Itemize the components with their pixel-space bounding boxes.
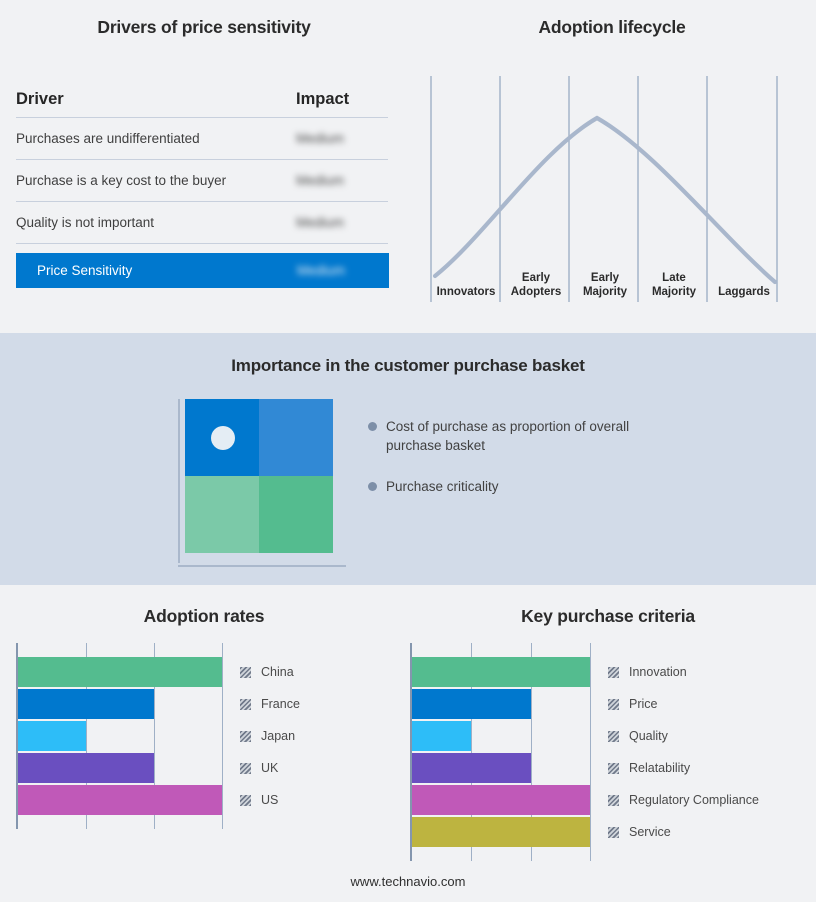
adoption-rates-chart: ChinaFranceJapanUKUS xyxy=(16,643,408,858)
stage-label-laggards: Laggards xyxy=(700,286,788,300)
legend-label: Price xyxy=(629,697,657,711)
quadrant-cell-bottom-left xyxy=(185,476,259,553)
legend-item: Relatability xyxy=(608,761,690,775)
hatched-swatch-icon xyxy=(240,699,251,710)
legend-label: Relatability xyxy=(629,761,690,775)
drivers-title: Drivers of price sensitivity xyxy=(0,17,408,38)
quadrant-cell-bottom-right xyxy=(259,476,333,553)
lifecycle-stage-labels: Innovators EarlyAdopters EarlyMajority L… xyxy=(430,276,802,316)
adoption-rates-title: Adoption rates xyxy=(0,606,408,627)
legend-label: UK xyxy=(261,761,278,775)
drivers-table-header: Driver Impact xyxy=(16,90,388,118)
adoption-bell-curve xyxy=(435,118,775,282)
legend-label: Service xyxy=(629,825,671,839)
drivers-table: Driver Impact Purchases are undifferenti… xyxy=(16,90,388,288)
position-marker-dot xyxy=(211,426,235,450)
lifecycle-title: Adoption lifecycle xyxy=(408,17,816,38)
legend-label: Regulatory Compliance xyxy=(629,793,759,807)
bar-price xyxy=(412,689,531,719)
purchase-basket-band: Importance in the customer purchase bask… xyxy=(0,333,816,585)
basket-title: Importance in the customer purchase bask… xyxy=(0,356,816,376)
bar-quality xyxy=(412,721,471,751)
legend-label: Japan xyxy=(261,729,295,743)
basket-legend-label: Cost of purchase as proportion of overal… xyxy=(386,417,652,455)
hatched-swatch-icon xyxy=(608,763,619,774)
legend-item: Price xyxy=(608,697,657,711)
basket-legend-label: Purchase criticality xyxy=(386,477,499,496)
bar-france xyxy=(18,689,154,719)
hatched-swatch-icon xyxy=(608,699,619,710)
bar-plot-area xyxy=(410,643,590,861)
chart-legend: ChinaFranceJapanUKUS xyxy=(240,643,390,829)
driver-impact: Medium xyxy=(296,131,388,146)
driver-impact: Medium xyxy=(296,215,388,230)
table-row: Purchases are undifferentiated Medium xyxy=(16,118,388,160)
legend-label: France xyxy=(261,697,300,711)
adoption-rates-panel: Adoption rates ChinaFranceJapanUKUS xyxy=(0,585,408,875)
legend-label: Innovation xyxy=(629,665,687,679)
chart-legend: InnovationPriceQualityRelatabilityRegula… xyxy=(608,643,808,861)
bar-china xyxy=(18,657,222,687)
legend-item: Innovation xyxy=(608,665,687,679)
gridline xyxy=(222,643,223,829)
hatched-swatch-icon xyxy=(608,827,619,838)
hatched-swatch-icon xyxy=(240,667,251,678)
quadrant-cell-top-left xyxy=(185,399,259,476)
legend-label: Quality xyxy=(629,729,668,743)
table-row: Purchase is a key cost to the buyer Medi… xyxy=(16,160,388,202)
bottom-band: Adoption rates ChinaFranceJapanUKUS Key … xyxy=(0,585,816,902)
quadrant-cells xyxy=(185,399,333,553)
legend-item: France xyxy=(240,697,300,711)
bar-service xyxy=(412,817,590,847)
hatched-swatch-icon xyxy=(608,795,619,806)
lifecycle-gridlines xyxy=(431,76,777,302)
top-band: Drivers of price sensitivity Driver Impa… xyxy=(0,0,816,333)
infographic-page: Drivers of price sensitivity Driver Impa… xyxy=(0,0,816,902)
key-criteria-panel: Key purchase criteria InnovationPriceQua… xyxy=(400,585,816,875)
bar-uk xyxy=(18,753,154,783)
hatched-swatch-icon xyxy=(608,731,619,742)
hatched-swatch-icon xyxy=(240,763,251,774)
legend-label: China xyxy=(261,665,294,679)
quadrant-y-axis xyxy=(178,399,180,563)
summary-impact: Medium xyxy=(297,263,389,278)
legend-item: Japan xyxy=(240,729,295,743)
legend-item: US xyxy=(240,793,278,807)
legend-label: US xyxy=(261,793,278,807)
key-criteria-title: Key purchase criteria xyxy=(400,606,816,627)
driver-name: Quality is not important xyxy=(16,215,296,230)
legend-item: Quality xyxy=(608,729,668,743)
footer-url: www.technavio.com xyxy=(0,874,816,889)
bar-innovation xyxy=(412,657,590,687)
driver-name: Purchases are undifferentiated xyxy=(16,131,296,146)
quadrant-x-axis xyxy=(178,565,346,567)
legend-item: UK xyxy=(240,761,278,775)
legend-item: China xyxy=(240,665,294,679)
key-criteria-chart: InnovationPriceQualityRelatabilityRegula… xyxy=(410,643,816,878)
hatched-swatch-icon xyxy=(240,731,251,742)
driver-name: Purchase is a key cost to the buyer xyxy=(16,173,296,188)
price-sensitivity-summary-row: Price Sensitivity Medium xyxy=(16,253,389,288)
gridline xyxy=(590,643,591,861)
summary-label: Price Sensitivity xyxy=(37,263,297,278)
column-header-driver: Driver xyxy=(16,90,296,109)
bar-japan xyxy=(18,721,86,751)
list-item: Cost of purchase as proportion of overal… xyxy=(368,417,788,455)
bullet-icon xyxy=(368,482,377,491)
bar-relatability xyxy=(412,753,531,783)
basket-legend: Cost of purchase as proportion of overal… xyxy=(368,417,788,518)
quadrant-chart xyxy=(178,399,348,567)
bar-regulatory-compliance xyxy=(412,785,590,815)
driver-impact: Medium xyxy=(296,173,388,188)
bar-plot-area xyxy=(16,643,222,829)
legend-item: Service xyxy=(608,825,671,839)
bullet-icon xyxy=(368,422,377,431)
bar-us xyxy=(18,785,222,815)
legend-item: Regulatory Compliance xyxy=(608,793,759,807)
hatched-swatch-icon xyxy=(608,667,619,678)
lifecycle-panel: Adoption lifecycle Innovators Ea xyxy=(408,0,816,333)
list-item: Purchase criticality xyxy=(368,477,788,496)
drivers-panel: Drivers of price sensitivity Driver Impa… xyxy=(0,0,408,333)
hatched-swatch-icon xyxy=(240,795,251,806)
quadrant-cell-top-right xyxy=(259,399,333,476)
column-header-impact: Impact xyxy=(296,90,388,109)
table-row: Quality is not important Medium xyxy=(16,202,388,244)
